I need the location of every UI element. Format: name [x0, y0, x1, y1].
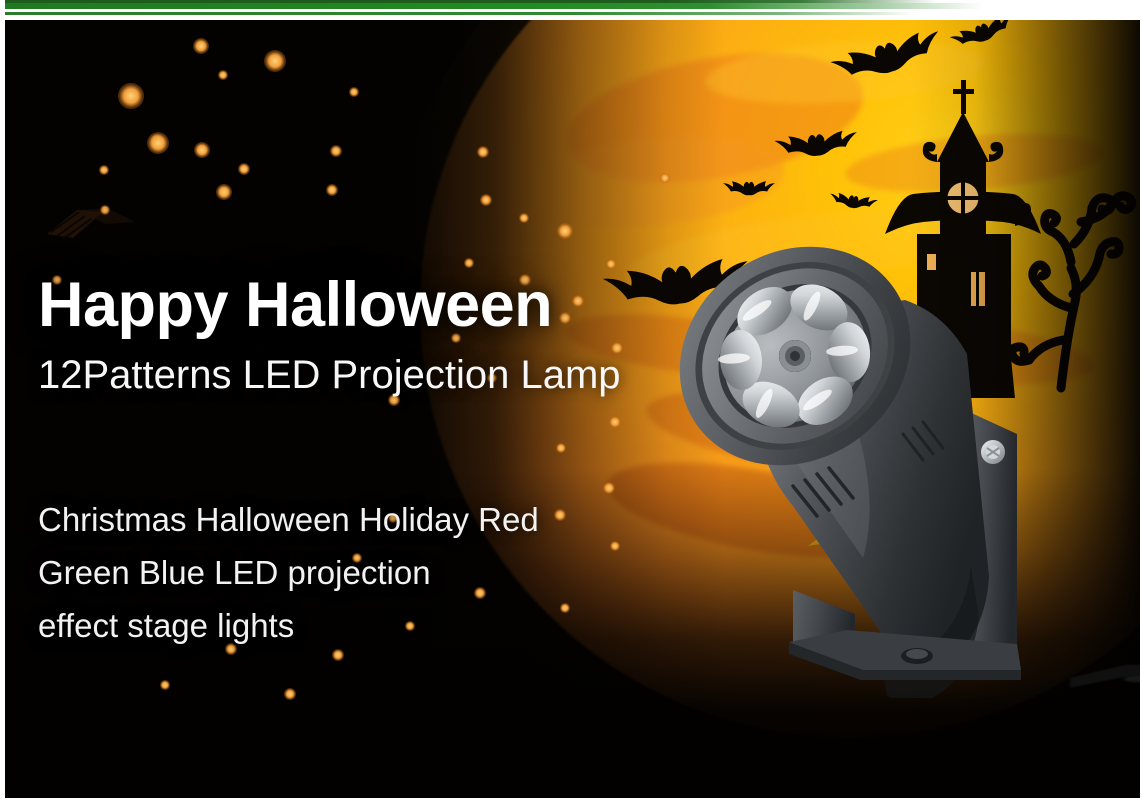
bracket-screw	[981, 440, 1005, 464]
spark-particle	[194, 142, 210, 158]
description-line-1: Christmas Halloween Holiday Red	[38, 493, 698, 546]
spark-particle	[660, 173, 670, 183]
page-title: Happy Halloween	[38, 273, 698, 337]
description-block: Christmas Halloween Holiday Red Green Bl…	[38, 493, 698, 652]
subtitle: 12Patterns LED Projection Lamp	[38, 351, 698, 399]
description-line-3: effect stage lights	[38, 599, 698, 652]
spark-particle	[160, 680, 170, 690]
green-rule-thin-band	[5, 12, 1142, 15]
spark-particle	[193, 38, 209, 54]
spark-particle	[606, 259, 616, 269]
spark-particle	[118, 83, 144, 109]
led-projection-lamp	[665, 198, 1085, 698]
spark-particle	[557, 223, 573, 239]
spark-particle	[216, 184, 232, 200]
description-line-2: Green Blue LED projection	[38, 546, 698, 599]
top-green-rule	[0, 0, 1142, 20]
spark-particle	[349, 87, 359, 97]
watermark-logo	[43, 204, 139, 248]
halloween-product-banner: Happy Halloween 12Patterns LED Projectio…	[0, 0, 1142, 800]
copy-block: Happy Halloween 12Patterns LED Projectio…	[38, 273, 698, 652]
spark-particle	[99, 165, 109, 175]
spark-particle	[519, 213, 529, 223]
artwork-stage: Happy Halloween 12Patterns LED Projectio…	[5, 18, 1140, 798]
spark-particle	[218, 70, 228, 80]
spark-particle	[464, 258, 474, 268]
